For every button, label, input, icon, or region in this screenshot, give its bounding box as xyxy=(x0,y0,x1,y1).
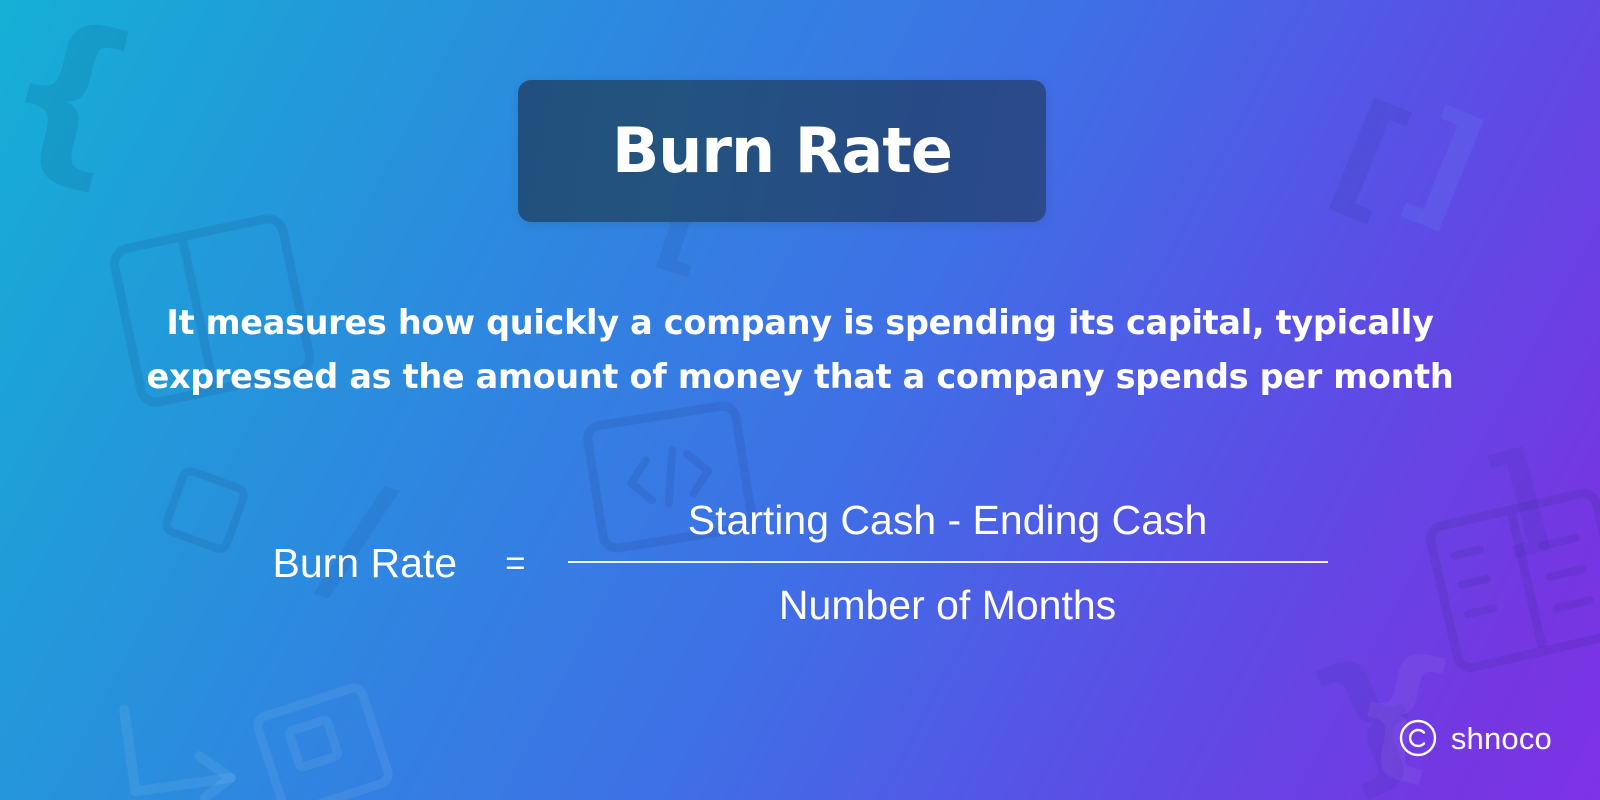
right-bracket-glyph: ] xyxy=(1387,80,1503,249)
square-outline-icon-bottom xyxy=(243,673,404,800)
formula-numerator: Starting Cash - Ending Cash xyxy=(688,500,1208,561)
curly-brace-glyph-bottom: } xyxy=(1289,616,1453,800)
page-title: Burn Rate xyxy=(612,120,952,182)
left-bracket-glyph: [ xyxy=(1313,72,1429,241)
curly-brace-glyph-right: { xyxy=(1336,619,1467,799)
title-badge: Burn Rate xyxy=(518,80,1046,222)
formula-fraction: Starting Cash - Ending Cash Number of Mo… xyxy=(568,500,1328,626)
formula-block: Burn Rate = Starting Cash - Ending Cash … xyxy=(0,500,1600,626)
brand-name: shnoco xyxy=(1451,723,1552,754)
description-text: It measures how quickly a company is spe… xyxy=(0,296,1600,404)
slide-canvas: { / [ ] [ ] xyxy=(0,0,1600,800)
copyright-circle-icon xyxy=(1398,718,1438,758)
brand-logo: shnoco xyxy=(1398,718,1552,758)
arrow-diagonal-icon xyxy=(102,678,267,800)
formula-left-term: Burn Rate xyxy=(272,543,457,584)
formula-denominator: Number of Months xyxy=(779,563,1116,626)
formula-equals-sign: = xyxy=(505,546,525,581)
curly-brace-glyph: { xyxy=(0,0,158,211)
fraction-bar xyxy=(568,561,1328,563)
